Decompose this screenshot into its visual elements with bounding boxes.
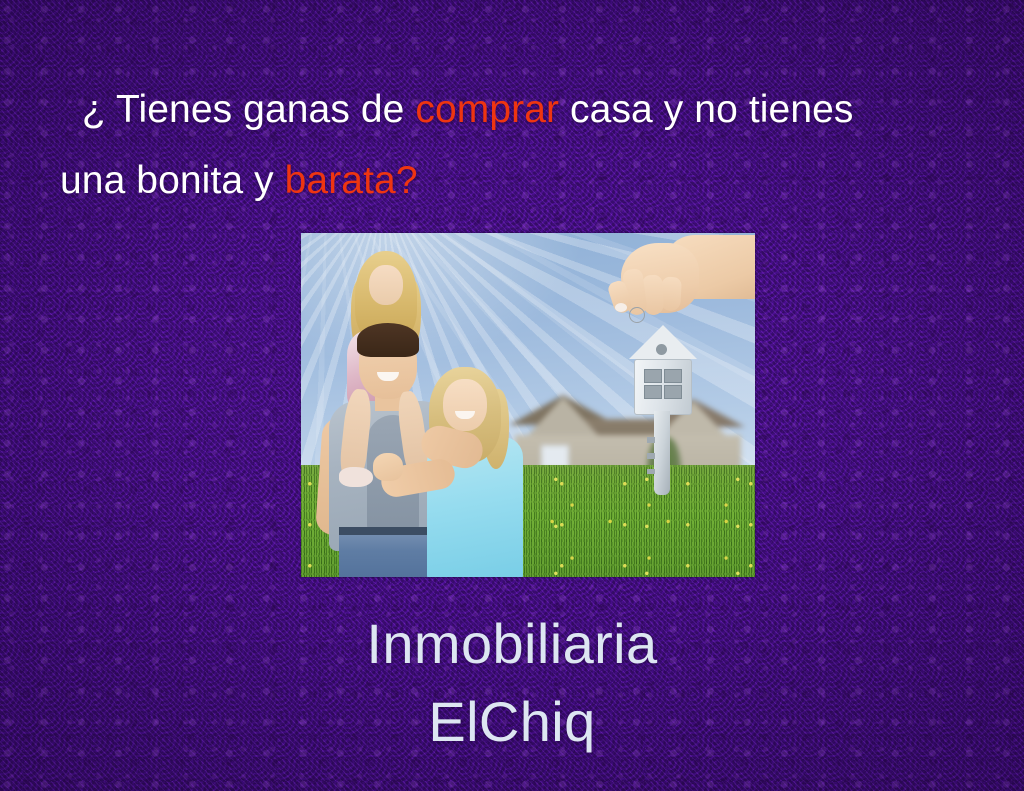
title-line-1-pre: ¿ Tienes ganas de [60,88,415,131]
title-highlight-barata: barata? [285,159,418,202]
slide-canvas: ¿ Tienes ganas de comprar casa y no tien… [0,0,1024,791]
company-name: Inmobiliaria ElChiq [0,605,1024,761]
hero-photo [301,233,755,577]
photo-family [303,239,525,577]
title-line-1-post: casa y no tienes [559,88,853,131]
title-line-1: ¿ Tienes ganas de comprar casa y no tien… [60,74,964,145]
company-name-line-1: Inmobiliaria [0,605,1024,683]
photo-hand [585,233,755,345]
title-line-2-pre: una bonita y [60,159,285,202]
title-highlight-comprar: comprar [415,88,559,131]
company-name-line-2: ElChiq [0,683,1024,761]
title-line-2: una bonita y barata? [60,145,964,216]
slide-title: ¿ Tienes ganas de comprar casa y no tien… [60,74,964,216]
